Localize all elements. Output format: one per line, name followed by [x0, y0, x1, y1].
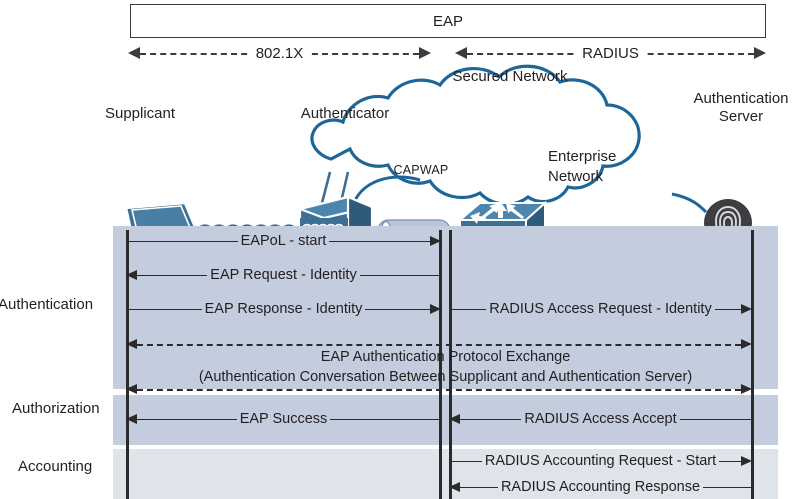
message-eap-response-identity-arrowhead	[430, 304, 441, 314]
message-radius-access-accept-arrowhead	[449, 414, 460, 424]
message-eap-exchange-bottom	[126, 381, 752, 397]
message-radius-accounting-request-start-arrowhead	[741, 456, 752, 466]
span-802-1x-arrow-left	[128, 47, 140, 59]
capwap-label: CAPWAP	[392, 163, 450, 177]
supplicant-label: Supplicant	[85, 105, 195, 122]
access-point-icon	[300, 172, 372, 230]
message-eap-exchange-top-arrowhead-right	[741, 339, 752, 349]
eap-exchange-line1: EAP Authentication Protocol Exchange	[113, 347, 778, 367]
row-label-authorization: Authorization	[12, 400, 100, 417]
enterprise-network-label-line2: Network	[548, 168, 658, 185]
message-eap-success-label: EAP Success	[237, 411, 331, 427]
message-eap-request-identity-label: EAP Request - Identity	[207, 267, 359, 283]
message-eap-exchange-bottom-arrowhead-left	[126, 384, 137, 394]
row-label-authentication: Authentication	[0, 296, 93, 313]
network-topology	[0, 60, 796, 230]
message-radius-access-request-identity-label: RADIUS Access Request - Identity	[486, 301, 714, 317]
message-eap-exchange-top-arrowhead-left	[126, 339, 137, 349]
message-eapol-start: EAPoL - start	[126, 233, 441, 249]
authentication-server-label-line1: Authentication	[686, 90, 796, 107]
eap-protocol-box: EAP	[130, 4, 766, 38]
message-radius-accounting-response-label: RADIUS Accounting Response	[498, 479, 703, 495]
message-radius-accounting-response: RADIUS Accounting Response	[449, 479, 752, 495]
span-802-1x-label: 802.1X	[250, 45, 310, 62]
authenticator-label: Authenticator	[270, 105, 420, 122]
span-radius-arrow-left	[455, 47, 467, 59]
sequence-diagram: EAPoL - start EAP Request - Identity EAP…	[113, 226, 778, 499]
row-label-accounting: Accounting	[18, 458, 92, 475]
eap-label: EAP	[433, 13, 463, 30]
message-eap-request-identity-arrowhead	[126, 270, 137, 280]
enterprise-network-label-line1: Enterprise	[548, 148, 658, 165]
message-radius-access-accept: RADIUS Access Accept	[449, 411, 752, 427]
span-radius-label: RADIUS	[576, 45, 645, 62]
span-802-1x-arrow-right	[419, 47, 431, 59]
message-radius-access-request-identity: RADIUS Access Request - Identity	[449, 301, 752, 317]
message-eap-success: EAP Success	[126, 411, 441, 427]
secured-network-label: Secured Network	[400, 68, 620, 85]
message-eap-success-arrowhead	[126, 414, 137, 424]
message-radius-accounting-request-start-label: RADIUS Accounting Request - Start	[482, 453, 719, 469]
message-eapol-start-arrowhead	[430, 236, 441, 246]
message-eap-response-identity: EAP Response - Identity	[126, 301, 441, 317]
authentication-server-label-line2: Server	[686, 108, 796, 125]
message-eap-request-identity: EAP Request - Identity	[126, 267, 441, 283]
span-radius-arrow-right	[754, 47, 766, 59]
message-radius-access-request-identity-arrowhead	[741, 304, 752, 314]
message-radius-accounting-response-arrowhead	[449, 482, 460, 492]
message-eap-response-identity-label: EAP Response - Identity	[202, 301, 366, 317]
message-eap-exchange-bottom-arrowhead-right	[741, 384, 752, 394]
message-eapol-start-label: EAPoL - start	[238, 233, 330, 249]
message-radius-accounting-request-start: RADIUS Accounting Request - Start	[449, 453, 752, 469]
message-radius-access-accept-label: RADIUS Access Accept	[521, 411, 679, 427]
